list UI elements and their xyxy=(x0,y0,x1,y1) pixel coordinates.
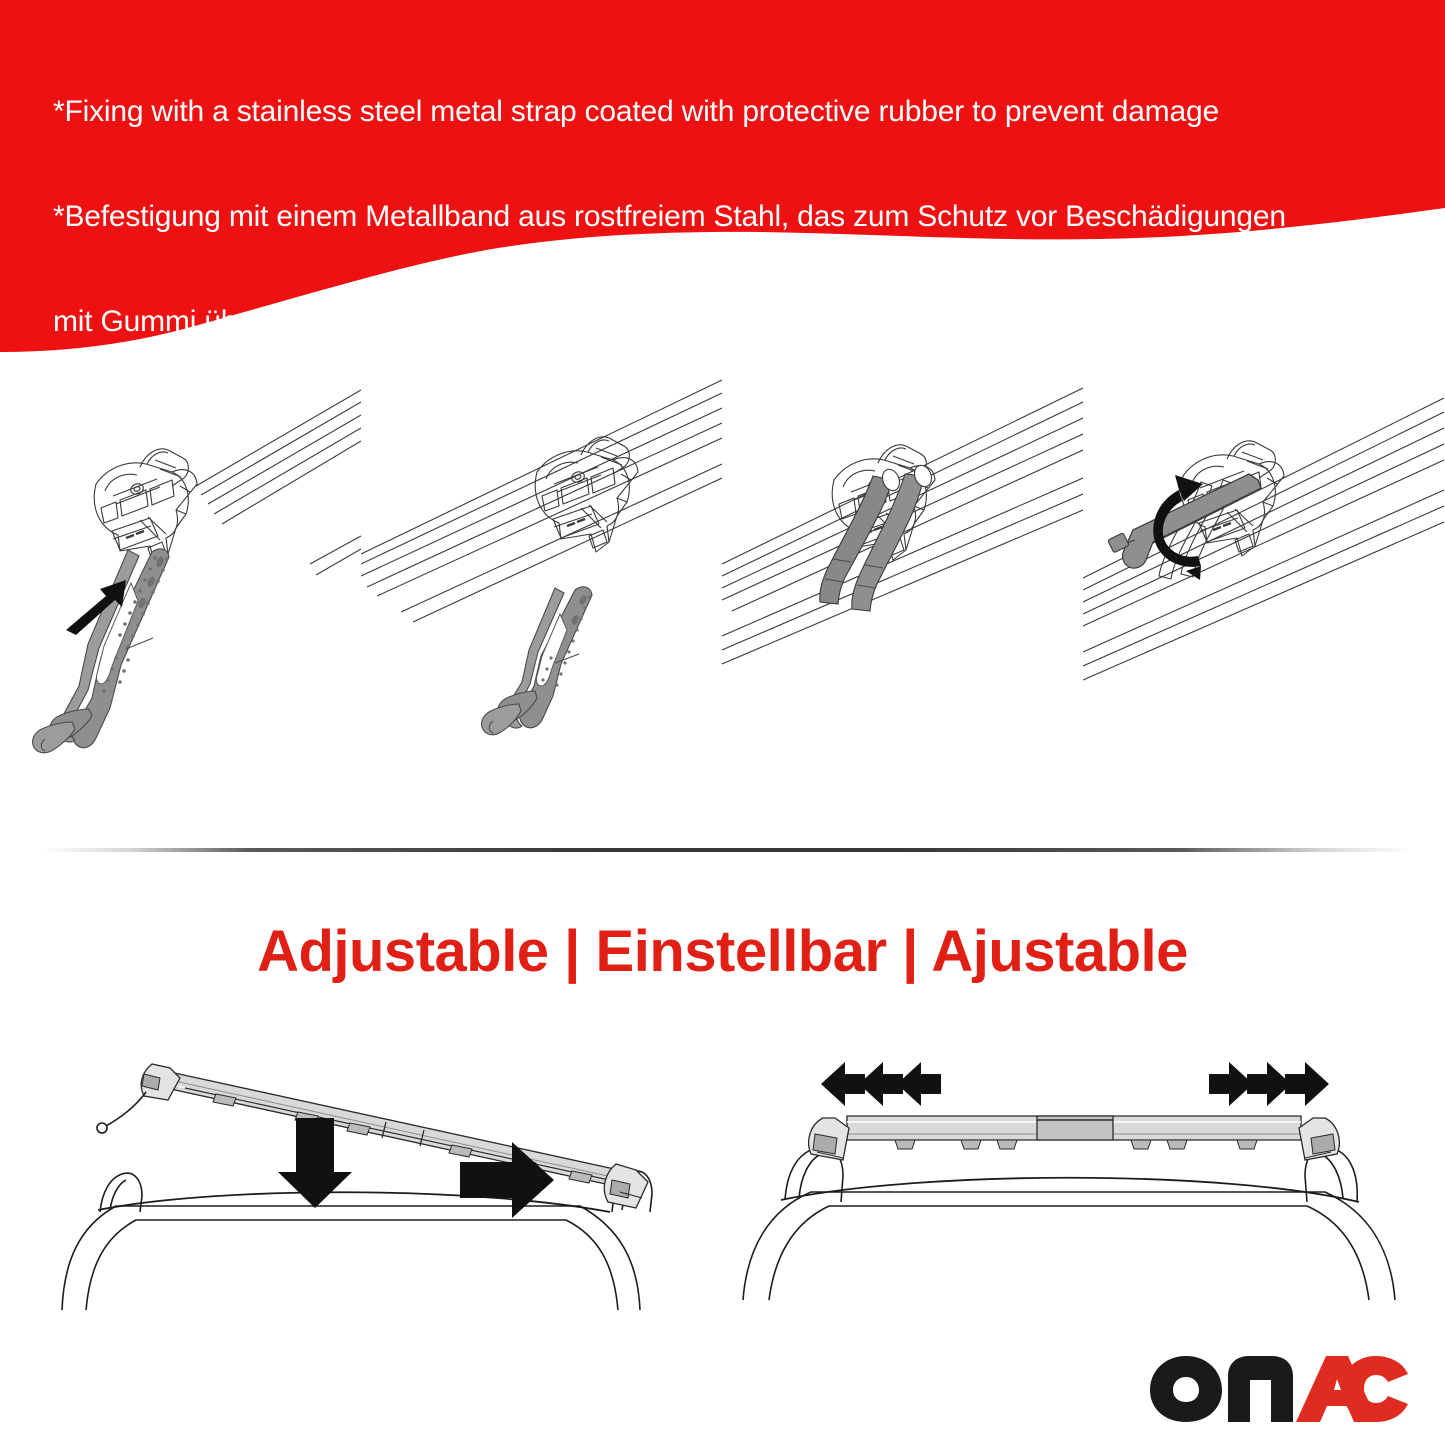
logo-letter-o xyxy=(1150,1356,1222,1422)
header-banner: *Fixing with a stainless steel metal str… xyxy=(0,0,1445,360)
omac-logo xyxy=(1148,1353,1410,1423)
section-divider xyxy=(0,848,1445,852)
bottom-diagrams-row xyxy=(0,1030,1445,1320)
logo-letter-c xyxy=(1342,1356,1408,1422)
strap-wrapped-illustration xyxy=(722,368,1083,818)
step-diagram-strap-wrapped xyxy=(722,368,1083,818)
header-line-de-2: mit Gummi überzogen ist xyxy=(53,304,1423,339)
crossbar-part xyxy=(97,1064,648,1208)
crossbar-place-illustration xyxy=(20,1030,720,1320)
metal-strap-part xyxy=(482,587,592,735)
adjustable-heading: Adjustable | Einstellbar | Ajustable xyxy=(0,918,1445,985)
diagram-crossbar-place-on-roof xyxy=(20,1030,720,1320)
strap-under-rail-illustration xyxy=(361,368,722,818)
insert-strap-illustration xyxy=(0,368,361,818)
left-triple-arrow-icon xyxy=(821,1062,941,1106)
step-diagram-insert-strap xyxy=(0,368,361,818)
header-line-en: *Fixing with a stainless steel metal str… xyxy=(53,94,1423,129)
down-arrow-icon xyxy=(278,1118,352,1208)
step-diagram-strap-under-rail xyxy=(361,368,722,818)
right-triple-arrow-icon xyxy=(1209,1062,1329,1106)
step-diagram-tighten-allen-key xyxy=(1083,368,1444,818)
header-line-de-1: *Befestigung mit einem Metallband aus ro… xyxy=(53,199,1423,234)
omac-logo-mark xyxy=(1148,1352,1410,1424)
crossbar-part xyxy=(809,1116,1340,1160)
metal-strap-part xyxy=(33,549,169,753)
diagram-crossbar-width-adjust xyxy=(725,1030,1425,1320)
crossbar-width-illustration xyxy=(725,1030,1425,1320)
tighten-allen-key-illustration xyxy=(1083,368,1444,818)
installation-steps-strip xyxy=(0,368,1445,818)
logo-letter-m xyxy=(1228,1356,1293,1422)
